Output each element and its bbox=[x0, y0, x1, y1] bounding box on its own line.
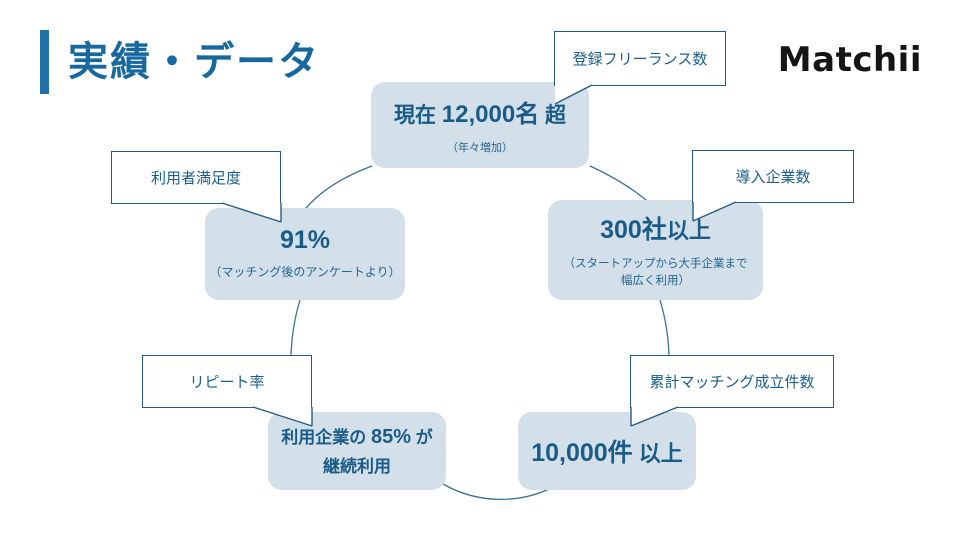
callout-companies[interactable]: 導入企業数 bbox=[692, 150, 854, 203]
callout-satisfaction[interactable]: 利用者満足度 bbox=[111, 151, 281, 204]
brand-logo: Matchii bbox=[778, 38, 922, 82]
callout-label: 利用者満足度 bbox=[151, 167, 241, 188]
stat-prefix: 現在 bbox=[394, 104, 442, 127]
stat-number: 85% bbox=[371, 426, 411, 448]
stat-suffix: が bbox=[411, 428, 433, 447]
page-title: 実績・データ bbox=[68, 34, 320, 90]
callout-label: 累計マッチング成立件数 bbox=[649, 371, 814, 392]
callout-tail-icon bbox=[253, 406, 313, 432]
stat-number: 12,000名 bbox=[442, 101, 539, 128]
stat-note-satisfaction: （マッチング後のアンケートより） bbox=[209, 264, 400, 281]
callout-matches[interactable]: 累計マッチング成立件数 bbox=[630, 355, 834, 408]
stat-suffix: 以上 bbox=[633, 441, 683, 466]
callout-tail-icon bbox=[222, 202, 282, 228]
stat-number: 10,000件 bbox=[531, 439, 632, 467]
stat-note-freelancers: （年々増加） bbox=[447, 141, 513, 157]
callout-label: 登録フリーランス数 bbox=[573, 48, 708, 69]
stat-value-matches: 10,000件 以上 bbox=[531, 433, 683, 469]
callout-tail-icon bbox=[554, 84, 614, 110]
callout-tail-icon bbox=[630, 406, 690, 432]
slide-canvas: 実績・データ Matchii 現在 12,000名 超 （年々増加） 91% （… bbox=[0, 0, 960, 540]
callout-label: リピート率 bbox=[189, 371, 264, 392]
stat-value-freelancers: 現在 12,000名 超 bbox=[394, 94, 566, 129]
stat-note-companies: （スタートアップから大手企業まで幅広く利用） bbox=[562, 256, 750, 289]
stat-number: 300社 bbox=[600, 216, 667, 244]
callout-freelancers[interactable]: 登録フリーランス数 bbox=[554, 31, 726, 86]
title-accent-bar bbox=[40, 30, 49, 94]
callout-label: 導入企業数 bbox=[735, 166, 810, 187]
callout-tail-icon bbox=[692, 201, 752, 227]
callout-repeat[interactable]: リピート率 bbox=[142, 355, 312, 408]
stat-line-two: 継続利用 bbox=[323, 457, 391, 476]
stat-value-satisfaction: 91% bbox=[280, 226, 330, 255]
